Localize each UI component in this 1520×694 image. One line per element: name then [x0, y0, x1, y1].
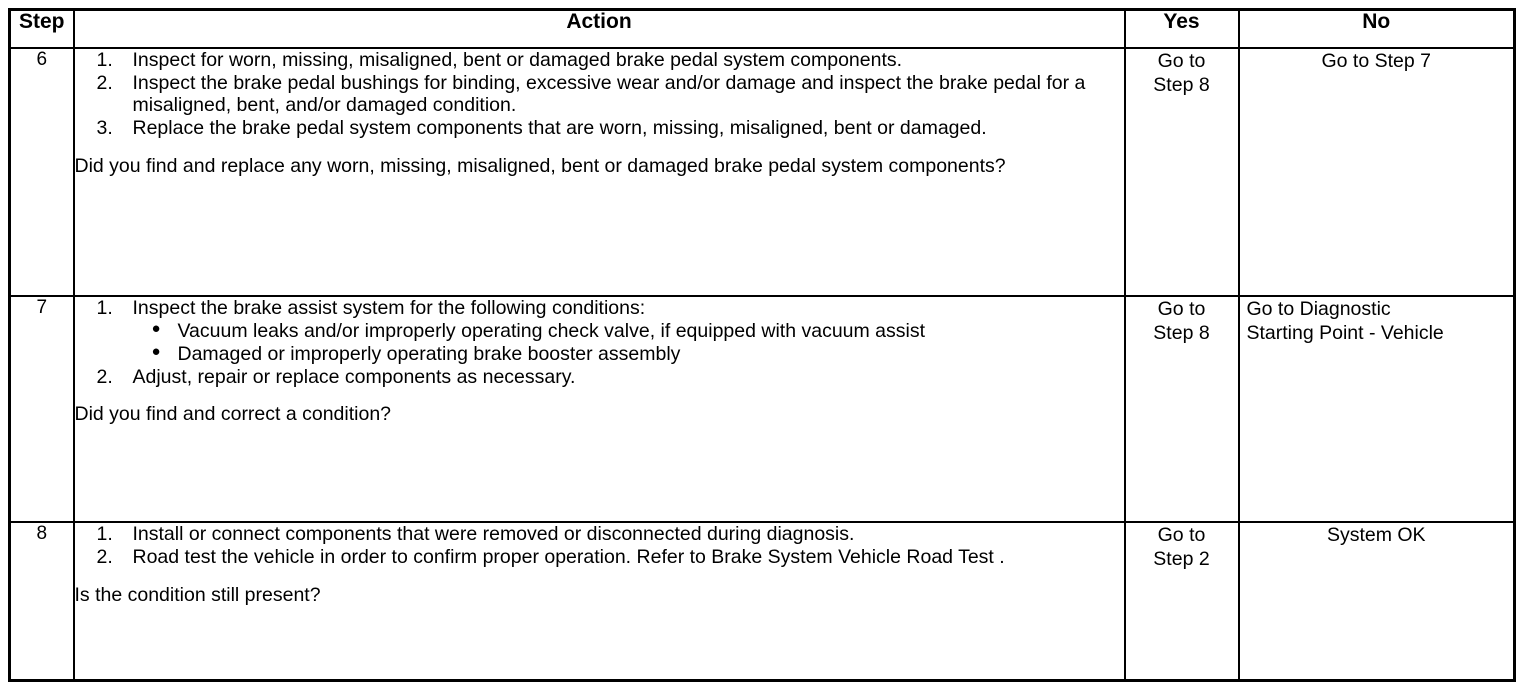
no-action: Go to Diagnostic Starting Point - Vehicl…: [1239, 296, 1515, 522]
action-content: 1. Inspect the brake assist system for t…: [74, 296, 1125, 522]
step-number: 7: [10, 296, 74, 522]
action-question: Is the condition still present?: [75, 584, 1124, 606]
action-step-list: 1. Inspect for worn, missing, misaligned…: [75, 49, 1124, 139]
list-item-number: 1.: [97, 49, 131, 71]
list-item: 1. Inspect for worn, missing, misaligned…: [75, 49, 1124, 71]
diagnostic-steps-table: Step Action Yes No 6 1. Inspect for worn…: [8, 8, 1516, 682]
yes-action: Go to Step 2: [1125, 522, 1239, 680]
list-item-text: Vacuum leaks and/or improperly operating…: [178, 320, 926, 342]
column-header-no: No: [1239, 10, 1515, 49]
action-step-list: 1. Install or connect components that we…: [75, 523, 1124, 568]
list-item: 1. Install or connect components that we…: [75, 523, 1124, 545]
yes-action: Go to Step 8: [1125, 296, 1239, 522]
yes-action-line1: Go to: [1126, 49, 1238, 73]
list-item-text: Inspect the brake assist system for the …: [133, 297, 646, 319]
list-item-text: Install or connect components that were …: [133, 523, 855, 545]
list-item-number: 2.: [97, 546, 131, 568]
list-item: ● Vacuum leaks and/or improperly operati…: [133, 320, 1124, 342]
step-number: 8: [10, 522, 74, 680]
list-item-number: 1.: [97, 297, 131, 319]
list-item: 2. Inspect the brake pedal bushings for …: [75, 72, 1124, 116]
action-question: Did you find and correct a condition?: [75, 403, 1124, 425]
no-action: System OK: [1239, 522, 1515, 680]
bullet-icon: ●: [152, 342, 161, 362]
action-bullet-list: ● Vacuum leaks and/or improperly operati…: [133, 320, 1124, 365]
table-row: 8 1. Install or connect components that …: [10, 522, 1515, 680]
list-item-number: 1.: [97, 523, 131, 545]
bullet-icon: ●: [152, 319, 161, 339]
yes-action-line2: Step 2: [1126, 547, 1238, 571]
list-item: ● Damaged or improperly operating brake …: [133, 343, 1124, 365]
yes-action-line2: Step 8: [1126, 73, 1238, 97]
column-header-step: Step: [10, 10, 74, 49]
yes-action-line1: Go to: [1126, 297, 1238, 321]
list-item: 2. Road test the vehicle in order to con…: [75, 546, 1124, 568]
yes-action-line1: Go to: [1126, 523, 1238, 547]
yes-action-line2: Step 8: [1126, 321, 1238, 345]
diagnostic-table-page: Step Action Yes No 6 1. Inspect for worn…: [0, 0, 1520, 694]
no-action-line1: Go to Diagnostic: [1247, 297, 1514, 321]
no-action-line1: Go to Step 7: [1240, 49, 1514, 73]
list-item-number: 2.: [97, 366, 131, 388]
action-content: 1. Inspect for worn, missing, misaligned…: [74, 48, 1125, 296]
action-content: 1. Install or connect components that we…: [74, 522, 1125, 680]
list-item-text: Adjust, repair or replace components as …: [133, 366, 576, 388]
table-header-row: Step Action Yes No: [10, 10, 1515, 49]
column-header-action: Action: [74, 10, 1125, 49]
action-step-list: 1. Inspect the brake assist system for t…: [75, 297, 1124, 388]
list-item-text: Damaged or improperly operating brake bo…: [178, 343, 681, 365]
action-question: Did you find and replace any worn, missi…: [75, 155, 1124, 177]
list-item-number: 2.: [97, 72, 131, 94]
yes-action: Go to Step 8: [1125, 48, 1239, 296]
list-item-text: Inspect for worn, missing, misaligned, b…: [133, 49, 903, 71]
no-action-line1: System OK: [1240, 523, 1514, 547]
list-item: 2. Adjust, repair or replace components …: [75, 366, 1124, 388]
list-item: 3. Replace the brake pedal system compon…: [75, 117, 1124, 139]
list-item-text: Inspect the brake pedal bushings for bin…: [133, 72, 1086, 116]
column-header-yes: Yes: [1125, 10, 1239, 49]
list-item-text: Replace the brake pedal system component…: [133, 117, 987, 139]
table-row: 7 1. Inspect the brake assist system for…: [10, 296, 1515, 522]
no-action-line2: Starting Point - Vehicle: [1247, 321, 1514, 345]
list-item: 1. Inspect the brake assist system for t…: [75, 297, 1124, 365]
step-number: 6: [10, 48, 74, 296]
list-item-number: 3.: [97, 117, 131, 139]
list-item-text: Road test the vehicle in order to confir…: [133, 546, 1005, 568]
no-action: Go to Step 7: [1239, 48, 1515, 296]
table-row: 6 1. Inspect for worn, missing, misalign…: [10, 48, 1515, 296]
